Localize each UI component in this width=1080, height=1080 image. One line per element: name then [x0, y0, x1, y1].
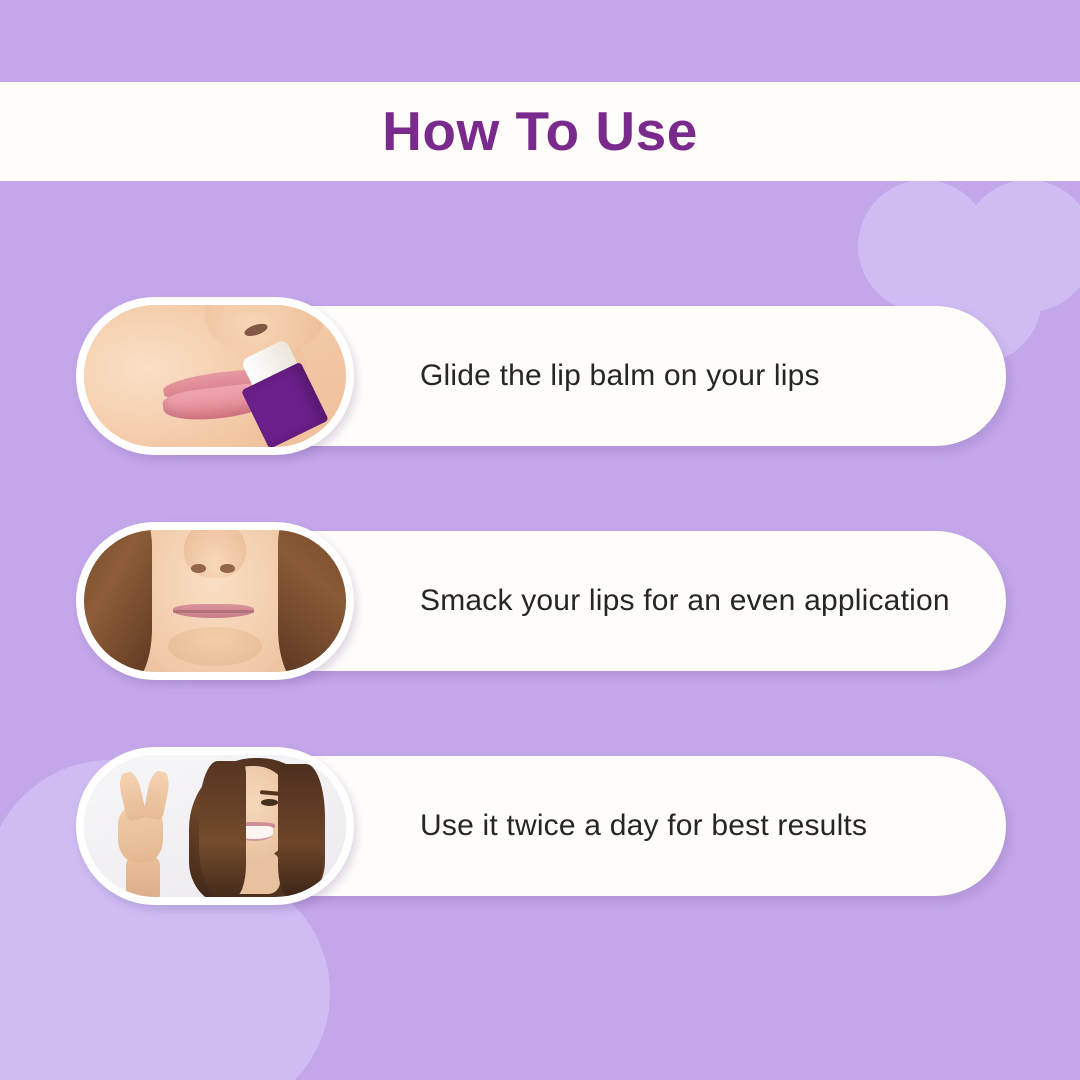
lips-with-balm-image — [84, 305, 346, 447]
hair-right-shape — [278, 530, 346, 672]
hair-front-shape — [199, 761, 246, 897]
thumbnail-clip — [84, 305, 346, 447]
lip-line-shape — [173, 610, 254, 614]
smiling-woman-peace-sign-image — [84, 755, 346, 897]
step-thumbnail — [76, 522, 354, 680]
chin-shape — [168, 627, 262, 667]
step-label: Use it twice a day for best results — [420, 807, 897, 845]
thumbnail-clip — [84, 530, 346, 672]
hair-left-shape — [84, 530, 152, 672]
eye-right-shape — [261, 799, 278, 806]
list-item: Glide the lip balm on your lips — [76, 297, 1006, 455]
step-label: Smack your lips for an even application — [420, 582, 980, 620]
list-item: Smack your lips for an even application — [76, 522, 1006, 680]
list-item: Use it twice a day for best results — [76, 747, 1006, 905]
step-label: Glide the lip balm on your lips — [420, 357, 850, 395]
how-to-use-poster: How To Use Glide the lip balm on your li… — [0, 0, 1080, 1080]
wrist-shape — [126, 857, 160, 897]
step-thumbnail — [76, 747, 354, 905]
pressed-lips-image — [84, 530, 346, 672]
header-band: How To Use — [0, 82, 1080, 181]
nostril-left-shape — [191, 564, 205, 573]
middle-finger-shape — [142, 769, 170, 820]
nostril-right-shape — [220, 564, 234, 573]
thumbnail-clip — [84, 755, 346, 897]
page-title: How To Use — [382, 104, 698, 159]
step-thumbnail — [76, 297, 354, 455]
hair-side-shape — [278, 764, 325, 897]
